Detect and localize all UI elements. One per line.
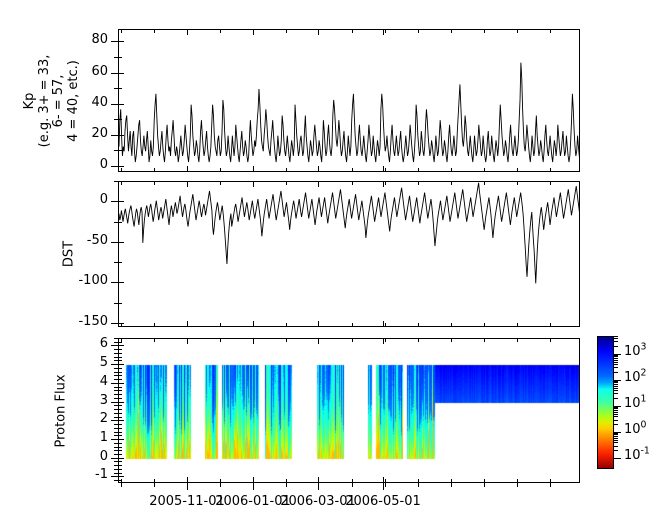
tick-mark: [286, 338, 287, 342]
tick-mark: [118, 353, 122, 354]
tick-mark: [118, 104, 124, 105]
figure-root: Kp(e.g. 3+ = 33,6- = 57,4 = 40, etc.) 02…: [0, 0, 665, 523]
colorbar-tick-label: 100: [624, 422, 647, 437]
tick-mark: [614, 355, 618, 356]
tick-mark: [253, 29, 254, 35]
tick-mark: [517, 483, 518, 487]
tick-mark: [318, 338, 319, 344]
tick-mark: [118, 135, 124, 136]
tick-mark: [118, 465, 122, 466]
tick-mark: [118, 473, 122, 474]
tick-mark: [418, 181, 419, 185]
colorbar-tick-label: 102: [624, 370, 647, 385]
tick-mark: [550, 483, 551, 487]
colorbar-tick-label: 101: [624, 396, 647, 411]
tick-mark: [118, 222, 122, 223]
tick-mark: [154, 483, 155, 487]
tick-mark: [614, 390, 618, 391]
tick-mark: [220, 323, 221, 327]
colorbar-tick-label: 103: [624, 344, 647, 359]
tick-mark: [614, 412, 618, 413]
tick-mark: [187, 29, 188, 35]
tick-mark: [187, 338, 188, 344]
tick-mark: [451, 29, 452, 33]
y-tick-label: -50: [66, 233, 108, 248]
tick-mark: [484, 29, 485, 33]
tick-mark: [111, 323, 118, 324]
tick-mark: [318, 483, 319, 490]
tick-mark: [517, 168, 518, 172]
tick-mark: [418, 323, 419, 327]
tick-mark: [614, 450, 618, 451]
tick-mark: [121, 323, 122, 327]
tick-mark: [118, 372, 122, 373]
tick-mark: [111, 73, 118, 74]
tick-mark: [111, 383, 118, 384]
tick-mark: [118, 345, 124, 346]
tick-mark: [253, 483, 254, 490]
tick-mark: [187, 321, 188, 327]
tick-mark: [614, 382, 618, 383]
tick-mark: [614, 388, 618, 389]
tick-mark: [385, 29, 386, 33]
tick-mark: [118, 379, 122, 380]
y-tick-label: 20: [66, 126, 108, 141]
y-tick-label: 3: [66, 393, 108, 408]
tick-mark: [614, 408, 618, 409]
data-line-kp: [119, 63, 580, 162]
kp-panel: [118, 29, 580, 172]
tick-mark: [614, 433, 618, 434]
tick-mark: [614, 364, 618, 365]
tick-mark: [484, 181, 485, 185]
tick-mark: [614, 336, 618, 337]
dst-panel: [118, 181, 580, 327]
tick-mark: [614, 367, 618, 368]
tick-mark: [352, 483, 353, 487]
tick-mark: [154, 181, 155, 185]
tick-mark: [385, 323, 386, 327]
tick-mark: [286, 323, 287, 327]
tick-mark: [614, 458, 621, 459]
tick-mark: [118, 447, 122, 448]
tick-mark: [118, 450, 122, 451]
tick-mark: [550, 338, 551, 342]
tick-mark: [118, 435, 122, 436]
dst-plot-area: [119, 182, 580, 327]
tick-mark: [614, 346, 618, 347]
colorbar: [597, 336, 614, 469]
tick-mark: [118, 428, 122, 429]
tick-mark: [111, 201, 118, 202]
tick-mark: [614, 341, 618, 342]
tick-mark: [154, 168, 155, 172]
tick-mark: [385, 338, 386, 342]
tick-mark: [118, 303, 122, 304]
tick-mark: [118, 342, 122, 343]
tick-mark: [614, 407, 618, 408]
tick-mark: [111, 402, 118, 403]
y-tick-label: 6: [66, 336, 108, 351]
tick-mark: [418, 483, 419, 487]
tick-mark: [187, 483, 188, 490]
tick-mark: [352, 323, 353, 327]
tick-mark: [286, 483, 287, 487]
tick-mark: [111, 41, 118, 42]
y-tick-label: 40: [66, 95, 108, 110]
tick-mark: [220, 29, 221, 33]
tick-mark: [111, 242, 118, 243]
tick-mark: [517, 323, 518, 327]
tick-mark: [614, 381, 618, 382]
tick-mark: [118, 349, 122, 350]
tick-mark: [550, 181, 551, 185]
tick-mark: [111, 282, 118, 283]
tick-mark: [614, 384, 618, 385]
axis-label-line: (e.g. 3+ = 33,: [37, 1, 52, 201]
tick-mark: [614, 393, 618, 394]
tick-mark: [118, 390, 122, 391]
tick-mark: [121, 338, 122, 342]
tick-mark: [118, 402, 124, 403]
tick-mark: [111, 476, 118, 477]
tick-mark: [352, 168, 353, 172]
tick-mark: [385, 168, 386, 172]
tick-mark: [118, 57, 122, 58]
tick-mark: [118, 409, 122, 410]
tick-mark: [451, 483, 452, 487]
tick-mark: [253, 181, 254, 187]
tick-mark: [118, 41, 124, 42]
tick-mark: [111, 420, 118, 421]
tick-mark: [220, 338, 221, 342]
tick-mark: [614, 434, 618, 435]
tick-mark: [111, 458, 118, 459]
tick-mark: [286, 168, 287, 172]
colorbar-tick-label: 10-1: [624, 448, 650, 463]
tick-mark: [118, 461, 122, 462]
tick-mark: [484, 483, 485, 487]
tick-mark: [220, 168, 221, 172]
tick-mark: [614, 398, 618, 399]
tick-mark: [385, 483, 386, 487]
tick-mark: [451, 323, 452, 327]
tick-mark: [118, 458, 124, 459]
tick-mark: [111, 364, 118, 365]
y-tick-label: 1: [66, 430, 108, 445]
tick-mark: [253, 321, 254, 327]
tick-mark: [614, 410, 618, 411]
tick-mark: [614, 438, 618, 439]
x-tick-label: 2006-05-01: [323, 494, 443, 509]
tick-mark: [318, 321, 319, 327]
tick-mark: [614, 436, 618, 437]
tick-mark: [118, 417, 122, 418]
y-tick-label: -1: [66, 467, 108, 482]
tick-mark: [550, 168, 551, 172]
tick-mark: [118, 424, 122, 425]
tick-mark: [451, 181, 452, 185]
tick-mark: [614, 372, 618, 373]
tick-mark: [451, 338, 452, 342]
tick-mark: [118, 360, 122, 361]
tick-mark: [118, 88, 122, 89]
tick-mark: [118, 282, 124, 283]
tick-mark: [118, 413, 122, 414]
tick-mark: [484, 323, 485, 327]
data-line-dst: [119, 183, 580, 284]
proton-flux-heatmap: [119, 339, 580, 483]
tick-mark: [614, 446, 618, 447]
tick-mark: [318, 181, 319, 187]
tick-mark: [253, 338, 254, 344]
tick-mark: [614, 420, 618, 421]
tick-mark: [318, 29, 319, 35]
tick-mark: [352, 338, 353, 342]
tick-mark: [550, 323, 551, 327]
tick-mark: [614, 424, 618, 425]
tick-mark: [550, 29, 551, 33]
y-tick-label: 60: [66, 64, 108, 79]
tick-mark: [484, 168, 485, 172]
tick-mark: [614, 360, 618, 361]
tick-mark: [154, 323, 155, 327]
tick-mark: [614, 442, 618, 443]
tick-mark: [418, 338, 419, 342]
tick-mark: [111, 439, 118, 440]
tick-mark: [286, 181, 287, 185]
tick-mark: [614, 414, 618, 415]
tick-mark: [253, 166, 254, 172]
tick-mark: [111, 104, 118, 105]
tick-mark: [118, 454, 122, 455]
tick-mark: [385, 181, 386, 185]
proton-flux-panel: [118, 338, 580, 483]
tick-mark: [118, 150, 122, 151]
tick-mark: [614, 358, 618, 359]
tick-mark: [118, 119, 122, 120]
y-tick-label: 80: [66, 32, 108, 47]
y-tick-label: 0: [66, 192, 108, 207]
tick-mark: [286, 29, 287, 33]
tick-mark: [614, 386, 618, 387]
tick-mark: [451, 168, 452, 172]
tick-mark: [484, 338, 485, 342]
tick-mark: [418, 29, 419, 33]
tick-mark: [187, 166, 188, 172]
tick-mark: [418, 168, 419, 172]
tick-mark: [118, 364, 124, 365]
tick-mark: [614, 440, 618, 441]
tick-mark: [118, 201, 124, 202]
tick-mark: [121, 181, 122, 185]
tick-mark: [154, 29, 155, 33]
tick-mark: [118, 357, 122, 358]
tick-mark: [118, 73, 124, 74]
y-tick-label: 0: [66, 449, 108, 464]
tick-mark: [118, 368, 122, 369]
tick-mark: [220, 181, 221, 185]
y-tick-label: 2: [66, 411, 108, 426]
axis-label-line: Kp: [23, 1, 38, 201]
y-tick-label: 4: [66, 374, 108, 389]
y-tick-label: -150: [66, 314, 108, 329]
tick-mark: [220, 483, 221, 487]
y-tick-label: -100: [66, 273, 108, 288]
tick-mark: [517, 29, 518, 33]
tick-mark: [318, 166, 319, 172]
tick-mark: [118, 469, 122, 470]
tick-mark: [517, 181, 518, 185]
tick-mark: [118, 242, 124, 243]
tick-mark: [111, 166, 118, 167]
tick-mark: [118, 387, 122, 388]
tick-mark: [187, 181, 188, 187]
tick-mark: [614, 338, 618, 339]
tick-mark: [352, 181, 353, 185]
tick-mark: [614, 362, 618, 363]
tick-mark: [118, 398, 122, 399]
tick-mark: [118, 476, 124, 477]
tick-mark: [118, 262, 122, 263]
tick-mark: [118, 375, 122, 376]
tick-mark: [111, 135, 118, 136]
tick-mark: [111, 345, 118, 346]
tick-mark: [517, 338, 518, 342]
tick-mark: [118, 432, 122, 433]
tick-mark: [118, 405, 122, 406]
tick-mark: [614, 356, 618, 357]
tick-mark: [614, 416, 618, 417]
tick-mark: [352, 29, 353, 33]
tick-mark: [154, 338, 155, 342]
tick-mark: [121, 29, 122, 33]
tick-mark: [118, 420, 124, 421]
tick-mark: [118, 443, 122, 444]
tick-mark: [121, 483, 122, 487]
tick-mark: [118, 394, 122, 395]
tick-mark: [121, 168, 122, 172]
tick-mark: [118, 383, 124, 384]
kp-plot-area: [119, 30, 580, 172]
tick-mark: [118, 439, 124, 440]
y-tick-label: 5: [66, 355, 108, 370]
